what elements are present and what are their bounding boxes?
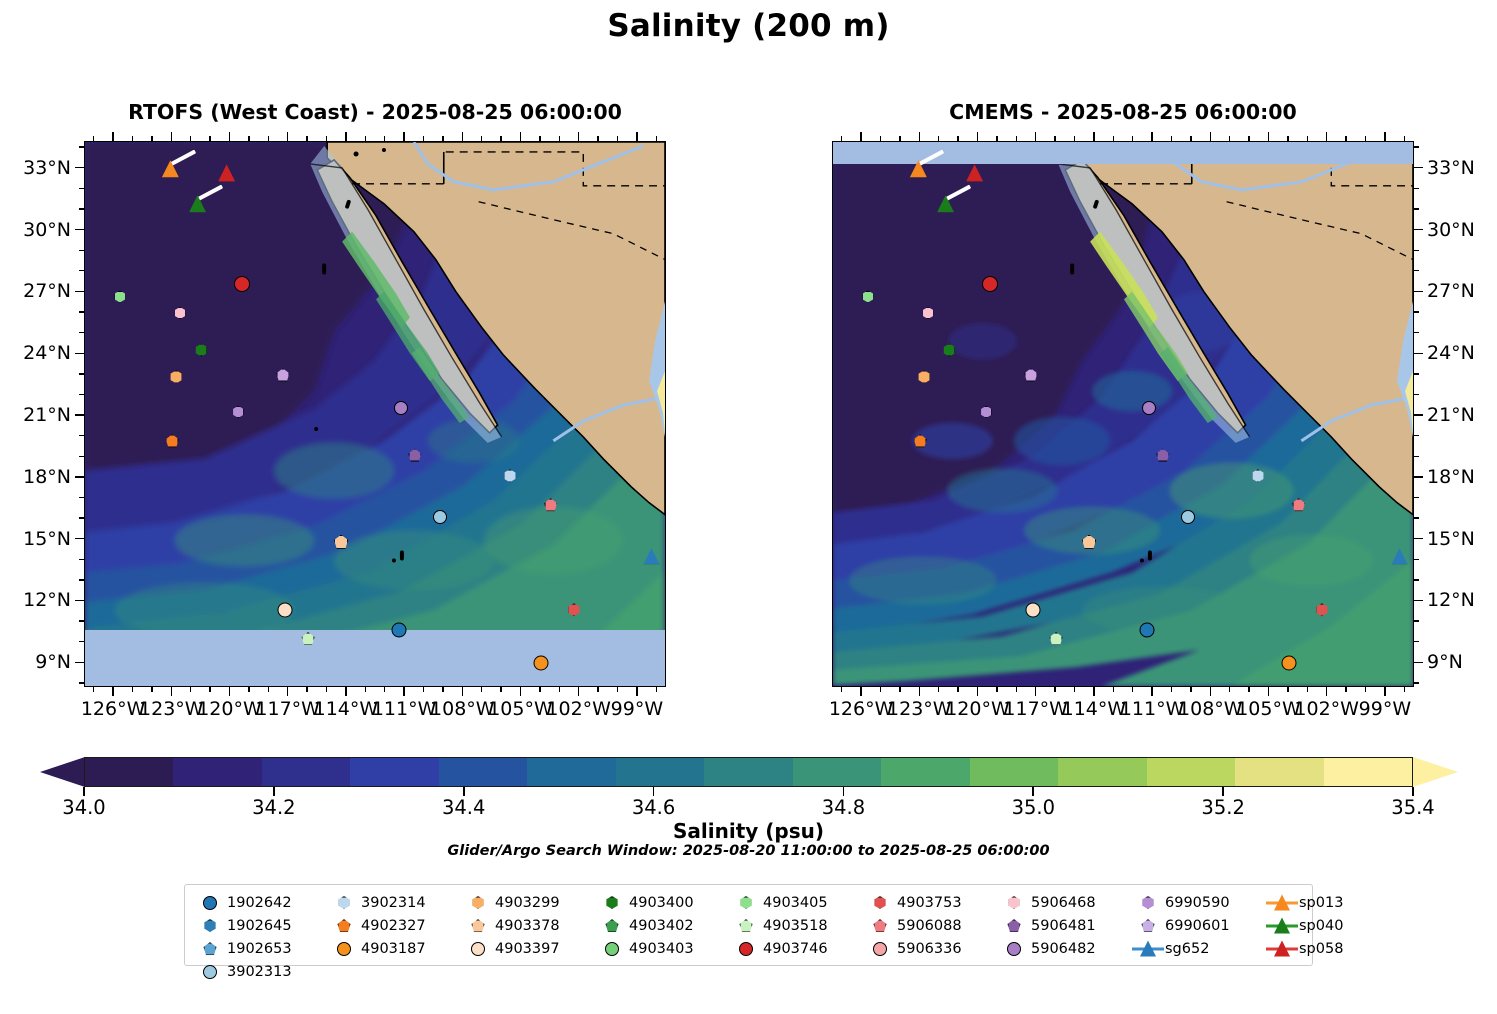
legend-marker-hexagon-icon (595, 892, 629, 914)
colorbar-segment-5 (527, 758, 615, 786)
x-axis-tick-minor (268, 136, 269, 141)
y-axis-tick-minor (1414, 682, 1419, 683)
y-axis-tick-minor (1414, 188, 1419, 189)
map-marker-4902327[interactable] (914, 434, 927, 447)
legend-label: 4903187 (361, 941, 457, 957)
x-axis-tick-minor (151, 136, 152, 141)
legend-column-3: 490340049034024903403 (595, 891, 725, 983)
legend-marker-hexagon-icon (327, 892, 361, 914)
map-marker-4903746[interactable] (982, 276, 998, 292)
legend-marker-circle-icon (863, 938, 897, 960)
map-panel-cmems[interactable] (832, 141, 1414, 687)
colorbar-tick (1412, 787, 1414, 796)
legend-entry-5906468[interactable]: 5906468 (997, 891, 1127, 914)
y-axis-tick-major (1414, 167, 1423, 168)
x-axis-tick-minor (957, 136, 958, 141)
legend-entry-1902642[interactable]: 1902642 (193, 891, 323, 914)
y-axis-tick-major (75, 538, 84, 539)
x-axis-tick-minor (1248, 687, 1249, 692)
x-axis-tick-major (1210, 687, 1211, 696)
x-axis-tick-minor (442, 687, 443, 692)
legend-entry-4902327[interactable]: 4902327 (327, 914, 457, 937)
legend-column-5: 490375359060885906336 (863, 891, 993, 983)
x-axis-tick-minor (559, 136, 560, 141)
x-axis-tick-minor (1171, 136, 1172, 141)
legend-entry-4903753[interactable]: 4903753 (863, 891, 993, 914)
map-marker-4903299[interactable] (170, 370, 183, 383)
x-axis-tick-major (1268, 687, 1269, 696)
x-axis-tick-major (520, 687, 521, 696)
colorbar-tick (1222, 787, 1224, 796)
y-axis-tick-minor (79, 559, 84, 560)
map-marker-6990601[interactable] (408, 449, 421, 462)
x-axis-tick-minor (481, 136, 482, 141)
y-axis-tick-minor (1414, 394, 1419, 395)
map-marker-6990590[interactable] (232, 406, 244, 418)
x-axis-tick-minor (656, 687, 657, 692)
no-data-band-south (85, 630, 665, 686)
y-axis-tick-minor (1414, 497, 1419, 498)
colorbar-segment-14 (1324, 758, 1412, 786)
x-axis-tick-minor (209, 687, 210, 692)
legend-label: 4903746 (763, 941, 859, 957)
legend-entry-4903402[interactable]: 4903402 (595, 914, 725, 937)
search-window-caption: Glider/Argo Search Window: 2025-08-20 11… (0, 843, 1497, 859)
legend-entry-3902314[interactable]: 3902314 (327, 891, 457, 914)
x-axis-tick-major (345, 132, 346, 141)
legend-entry-4903403[interactable]: 4903403 (595, 937, 725, 960)
y-axis-tick-minor (79, 250, 84, 251)
legend-marker-pentagon-icon (863, 915, 897, 937)
legend-entry-4903299[interactable]: 4903299 (461, 891, 591, 914)
map-marker-3902313[interactable] (1181, 510, 1195, 524)
x-axis-tick-major (1093, 687, 1094, 696)
map-marker-5906481[interactable] (276, 368, 289, 381)
legend-entry-1902645[interactable]: 1902645 (193, 914, 323, 937)
x-axis-tick-minor (306, 136, 307, 141)
x-axis-tick-minor (899, 136, 900, 141)
x-axis-tick-major (1268, 132, 1269, 141)
map-marker-4903397[interactable] (277, 602, 292, 617)
x-axis-tick-major (520, 132, 521, 141)
x-axis-tick-minor (539, 136, 540, 141)
x-axis-tick-minor (1190, 687, 1191, 692)
y-axis-tick-minor (79, 456, 84, 457)
legend-label: 4903397 (495, 941, 591, 957)
y-axis-tick-major (1414, 414, 1423, 415)
x-axis-tick-minor (1074, 687, 1075, 692)
legend-entry-sp013[interactable]: sp013 (1265, 891, 1371, 914)
x-axis-tick-major (1384, 132, 1385, 141)
legend-marker-circle-icon (461, 938, 495, 960)
x-axis-tick-minor (617, 687, 618, 692)
y-axis-tick-major (75, 476, 84, 477)
x-axis-tick-minor (559, 687, 560, 692)
map-marker-4903518[interactable] (1050, 632, 1063, 645)
x-axis-tick-minor (1171, 687, 1172, 692)
legend-entry-3902313[interactable]: 3902313 (193, 960, 323, 983)
y-axis-label: 24°N (1427, 342, 1475, 364)
legend-marker-pentagon-icon (595, 915, 629, 937)
legend-label: 4903753 (897, 895, 993, 911)
legend-label: 4903378 (495, 918, 591, 934)
y-axis-tick-minor (1414, 332, 1419, 333)
x-axis-tick-minor (1307, 687, 1308, 692)
x-axis-tick-minor (248, 687, 249, 692)
legend-entry-5906481[interactable]: 5906481 (997, 914, 1127, 937)
x-axis-tick-minor (151, 687, 152, 692)
map-marker-5906468[interactable] (922, 307, 934, 319)
x-axis-tick-major (1326, 687, 1327, 696)
legend-entry-5906336[interactable]: 5906336 (863, 937, 993, 960)
colorbar-segment-7 (704, 758, 792, 786)
x-axis-tick-major (1210, 132, 1211, 141)
map-marker-1902642[interactable] (392, 623, 407, 638)
y-axis-label: 24°N (0, 342, 71, 364)
legend-marker-hexagon-icon (729, 892, 763, 914)
y-axis-label: 33°N (1427, 157, 1475, 179)
legend-entry-4903378[interactable]: 4903378 (461, 914, 591, 937)
legend-column-2: 490329949033784903397 (461, 891, 591, 983)
y-axis-label: 12°N (0, 589, 71, 611)
colorbar-extend-max (1413, 757, 1458, 787)
map-marker-sg652[interactable] (1391, 548, 1407, 564)
y-axis-tick-major (1414, 229, 1423, 230)
x-axis-tick-major (171, 132, 172, 141)
legend-marker-pentagon-icon (461, 915, 495, 937)
x-axis-tick-major (1151, 132, 1152, 141)
legend-entry-4903397[interactable]: 4903397 (461, 937, 591, 960)
map-marker-4903518[interactable] (302, 632, 315, 645)
y-axis-tick-minor (79, 682, 84, 683)
legend-label: 4902327 (361, 918, 457, 934)
y-axis-label: 9°N (0, 651, 71, 673)
x-axis-tick-minor (442, 136, 443, 141)
legend-marker-circle-icon (729, 938, 763, 960)
map-marker-4903753[interactable] (567, 603, 580, 616)
legend-label: sp058 (1299, 941, 1371, 957)
legend-label: 5906088 (897, 918, 993, 934)
x-axis-label: 99°W (1351, 698, 1419, 720)
x-axis-tick-minor (190, 136, 191, 141)
x-axis-tick-major (860, 687, 861, 696)
x-axis-tick-major (1035, 132, 1036, 141)
y-axis-tick-minor (79, 641, 84, 642)
legend-label: 4903403 (629, 941, 725, 957)
x-axis-tick-minor (1113, 136, 1114, 141)
map-marker-4903400[interactable] (943, 344, 956, 357)
legend-entry-4903518[interactable]: 4903518 (729, 914, 859, 937)
y-axis-tick-minor (1414, 579, 1419, 580)
colorbar-segment-3 (350, 758, 438, 786)
y-axis-tick-major (75, 662, 84, 663)
colorbar-tick (1032, 787, 1034, 796)
y-axis-tick-minor (1414, 435, 1419, 436)
x-axis-tick-major (919, 132, 920, 141)
page-title: Salinity (200 m) (0, 8, 1497, 44)
legend-label: 6990590 (1165, 895, 1261, 911)
map-marker-5906482[interactable] (1142, 401, 1156, 415)
map-marker-3902314[interactable] (503, 469, 516, 482)
map-marker-4903378[interactable] (334, 535, 348, 549)
x-axis-tick-major (287, 132, 288, 141)
x-axis-tick-minor (365, 136, 366, 141)
map-marker-5906468[interactable] (174, 307, 186, 319)
legend-label: 5906481 (1031, 918, 1127, 934)
map-marker-4903746[interactable] (234, 276, 250, 292)
map-marker-4903405[interactable] (862, 291, 874, 303)
x-axis-label: 99°W (603, 698, 671, 720)
colorbar-tick-label: 35.2 (1201, 796, 1244, 819)
x-axis-tick-minor (1365, 687, 1366, 692)
x-axis-tick-minor (423, 687, 424, 692)
colorbar-segment-13 (1235, 758, 1323, 786)
x-axis-tick-minor (1287, 136, 1288, 141)
y-axis-tick-major (75, 353, 84, 354)
legend-marker-pentagon-icon (1131, 915, 1165, 937)
colorbar-tick-label: 35.4 (1391, 796, 1434, 819)
map-marker-4903378[interactable] (1082, 535, 1096, 549)
y-axis-tick-minor (1414, 250, 1419, 251)
x-axis-tick-minor (597, 687, 598, 692)
legend-entry-sp058[interactable]: sp058 (1265, 937, 1371, 960)
legend-marker-hexagon-icon (863, 892, 897, 914)
panel-title-rtofs: RTOFS (West Coast) - 2025-08-25 06:00:00 (84, 100, 666, 124)
y-axis-tick-major (1414, 538, 1423, 539)
legend-marker-pentagon-icon (729, 915, 763, 937)
legend-label: 1902642 (227, 895, 323, 911)
x-axis-tick-minor (365, 687, 366, 692)
y-axis-label: 21°N (0, 404, 71, 426)
map-marker-4903400[interactable] (195, 344, 208, 357)
map-marker-sp013[interactable] (910, 160, 927, 177)
map-marker-sp040[interactable] (937, 195, 954, 212)
legend-marker-triangle-line-icon (1265, 892, 1299, 914)
legend-label: 4903405 (763, 895, 859, 911)
x-axis-tick-major (977, 132, 978, 141)
map-marker-5906481[interactable] (1024, 368, 1037, 381)
x-axis-tick-major (403, 687, 404, 696)
legend-marker-hexagon-icon (1131, 892, 1165, 914)
x-axis-tick-minor (1248, 136, 1249, 141)
map-marker-4902327[interactable] (166, 434, 179, 447)
legend-label: 5906336 (897, 941, 993, 957)
x-axis-tick-minor (268, 687, 269, 692)
legend-entry-6990590[interactable]: 6990590 (1131, 891, 1261, 914)
x-axis-tick-major (1151, 687, 1152, 696)
legend[interactable]: 1902642190264519026533902313390231449023… (184, 884, 1313, 966)
x-axis-tick-minor (132, 136, 133, 141)
legend-marker-triangle-line-icon (1265, 938, 1299, 960)
y-axis-tick-minor (79, 332, 84, 333)
x-axis-tick-minor (1307, 136, 1308, 141)
map-marker-1902642[interactable] (1140, 623, 1155, 638)
y-axis-tick-major (75, 414, 84, 415)
colorbar-segment-0 (85, 758, 173, 786)
colorbar-tick-label: 35.0 (1012, 796, 1055, 819)
colorbar-tick (463, 787, 465, 796)
map-marker-sp040[interactable] (189, 195, 206, 212)
y-axis-label: 18°N (1427, 466, 1475, 488)
legend-marker-triangle-line-icon (1131, 938, 1165, 960)
y-axis-tick-major (1414, 600, 1423, 601)
x-axis-tick-minor (656, 136, 657, 141)
x-axis-tick-minor (996, 687, 997, 692)
y-axis-label: 21°N (1427, 404, 1475, 426)
x-axis-tick-minor (1229, 687, 1230, 692)
legend-marker-hexagon-icon (997, 892, 1031, 914)
legend-entry-1902653[interactable]: 1902653 (193, 937, 323, 960)
x-axis-tick-minor (880, 687, 881, 692)
y-axis-tick-minor (1414, 559, 1419, 560)
x-axis-tick-major (229, 687, 230, 696)
map-marker-4903405[interactable] (114, 291, 126, 303)
y-axis-tick-major (1414, 353, 1423, 354)
y-axis-tick-major (75, 291, 84, 292)
colorbar-tick-label: 34.2 (252, 796, 295, 819)
x-axis-tick-minor (1190, 136, 1191, 141)
legend-label: 4903402 (629, 918, 725, 934)
legend-marker-circle-icon (997, 938, 1031, 960)
y-axis-tick-minor (1414, 456, 1419, 457)
y-axis-tick-minor (79, 373, 84, 374)
y-axis-tick-minor (1414, 311, 1419, 312)
y-axis-tick-minor (79, 208, 84, 209)
x-axis-tick-minor (190, 687, 191, 692)
legend-entry-4903405[interactable]: 4903405 (729, 891, 859, 914)
legend-label: 4903400 (629, 895, 725, 911)
y-axis-label: 27°N (1427, 280, 1475, 302)
legend-entry-5906088[interactable]: 5906088 (863, 914, 993, 937)
x-axis-tick-minor (93, 687, 94, 692)
map-marker-4903299[interactable] (918, 370, 931, 383)
y-axis-tick-minor (1414, 517, 1419, 518)
y-axis-tick-minor (79, 270, 84, 271)
y-axis-tick-major (75, 600, 84, 601)
y-axis-tick-minor (1414, 641, 1419, 642)
legend-label: 1902645 (227, 918, 323, 934)
map-marker-4903187[interactable] (533, 656, 548, 671)
legend-column-7: 69905906990601sg652 (1131, 891, 1261, 983)
x-axis-tick-minor (1229, 136, 1230, 141)
x-axis-tick-minor (326, 687, 327, 692)
legend-label: 1902653 (227, 941, 323, 957)
map-marker-5906088[interactable] (544, 498, 557, 511)
x-axis-tick-minor (597, 136, 598, 141)
x-axis-tick-major (1384, 687, 1385, 696)
legend-entry-sg652[interactable]: sg652 (1131, 937, 1261, 960)
map-marker-3902313[interactable] (433, 510, 447, 524)
panel-title-cmems: CMEMS - 2025-08-25 06:00:00 (832, 100, 1414, 124)
x-axis-tick-minor (1113, 687, 1114, 692)
colorbar[interactable] (40, 757, 1457, 787)
legend-marker-circle-icon (193, 961, 227, 983)
x-axis-tick-major (636, 687, 637, 696)
x-axis-tick-minor (539, 687, 540, 692)
legend-label: 6990601 (1165, 918, 1261, 934)
x-axis-tick-minor (209, 136, 210, 141)
colorbar-segment-8 (793, 758, 881, 786)
x-axis-tick-minor (384, 687, 385, 692)
x-axis-tick-major (860, 132, 861, 141)
legend-entry-sp040[interactable]: sp040 (1265, 914, 1371, 937)
y-axis-label: 27°N (0, 280, 71, 302)
map-marker-sp058[interactable] (218, 164, 235, 181)
legend-marker-circle-icon (193, 892, 227, 914)
legend-grid: 1902642190264519026533902313390231449023… (193, 891, 1375, 983)
y-axis-tick-minor (1414, 270, 1419, 271)
legend-entry-5906482[interactable]: 5906482 (997, 937, 1127, 960)
x-axis-tick-minor (1287, 687, 1288, 692)
map-marker-5906482[interactable] (394, 401, 408, 415)
legend-entry-4903400[interactable]: 4903400 (595, 891, 725, 914)
map-marker-6990590[interactable] (980, 406, 992, 418)
colorbar-segment-4 (439, 758, 527, 786)
x-axis-tick-minor (996, 136, 997, 141)
x-axis-tick-major (578, 687, 579, 696)
colorbar-segment-1 (173, 758, 261, 786)
y-axis-label: 18°N (0, 466, 71, 488)
x-axis-tick-major (636, 132, 637, 141)
map-marker-4903187[interactable] (1281, 656, 1296, 671)
x-axis-tick-minor (957, 687, 958, 692)
y-axis-label: 30°N (1427, 219, 1475, 241)
map-marker-5906088[interactable] (1292, 498, 1305, 511)
legend-entry-6990601[interactable]: 6990601 (1131, 914, 1261, 937)
x-axis-tick-major (462, 687, 463, 696)
x-axis-tick-major (345, 687, 346, 696)
x-axis-tick-major (1093, 132, 1094, 141)
map-marker-4903753[interactable] (1315, 603, 1328, 616)
legend-column-8: sp013sp040sp058 (1265, 891, 1371, 983)
y-axis-label: 15°N (1427, 528, 1475, 550)
map-marker-sp058[interactable] (966, 164, 983, 181)
x-axis-tick-major (112, 687, 113, 696)
legend-marker-pentagon-icon (997, 915, 1031, 937)
legend-entry-4903746[interactable]: 4903746 (729, 937, 859, 960)
x-axis-tick-major (112, 132, 113, 141)
map-marker-3902314[interactable] (1251, 469, 1264, 482)
map-marker-sg652[interactable] (643, 548, 659, 564)
colorbar-tick (83, 787, 85, 796)
legend-label: sp013 (1299, 895, 1371, 911)
y-axis-tick-minor (79, 311, 84, 312)
y-axis-tick-minor (1414, 146, 1419, 147)
colorbar-segment-10 (970, 758, 1058, 786)
x-axis-tick-minor (423, 136, 424, 141)
y-axis-tick-minor (79, 579, 84, 580)
x-axis-tick-minor (1054, 687, 1055, 692)
legend-marker-circle-icon (327, 938, 361, 960)
legend-label: sg652 (1165, 941, 1261, 957)
map-marker-6990601[interactable] (1156, 449, 1169, 462)
legend-entry-4903187[interactable]: 4903187 (327, 937, 457, 960)
legend-label: 3902313 (227, 964, 323, 980)
x-axis-tick-major (977, 687, 978, 696)
map-marker-4903397[interactable] (1025, 602, 1040, 617)
map-panel-rtofs[interactable] (84, 141, 666, 687)
map-marker-sp013[interactable] (162, 160, 179, 177)
y-axis-tick-major (1414, 662, 1423, 663)
legend-marker-pentagon-icon (193, 938, 227, 960)
x-axis-tick-minor (132, 687, 133, 692)
y-axis-tick-minor (79, 146, 84, 147)
colorbar-segment-11 (1058, 758, 1146, 786)
colorbar-tick-label: 34.6 (632, 796, 675, 819)
legend-label: 4903299 (495, 895, 591, 911)
legend-label: 3902314 (361, 895, 457, 911)
x-axis-tick-minor (93, 136, 94, 141)
